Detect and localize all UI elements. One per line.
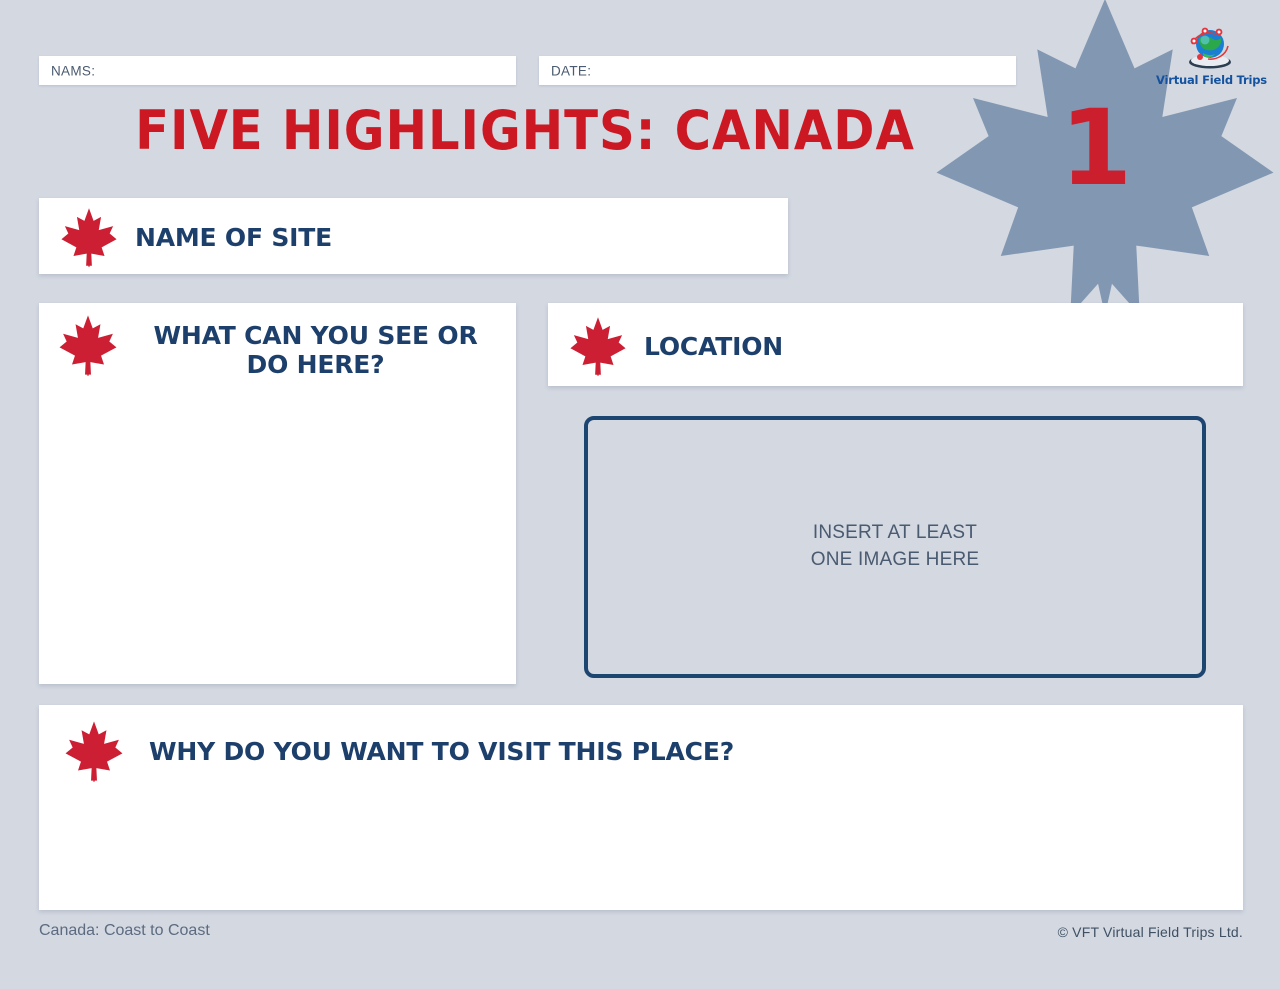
location-panel[interactable]: LOCATION [548, 303, 1243, 386]
date-field[interactable]: DATE: [539, 56, 1016, 85]
location-heading-row: LOCATION [568, 315, 783, 377]
image-placeholder[interactable]: INSERT AT LEAST ONE IMAGE HERE [584, 416, 1206, 678]
maple-leaf-icon [59, 206, 119, 268]
see-or-do-heading-row: WHAT CAN YOU SEE OR DO HERE? [57, 313, 498, 379]
worksheet-page: 1 Virtual Field Trips NAMS: DATE: FIV [0, 0, 1280, 989]
maple-leaf-icon [568, 315, 628, 377]
why-visit-heading-row: WHY DO YOU WANT TO VISIT THIS PLACE? [63, 719, 734, 783]
name-field[interactable]: NAMS: [39, 56, 516, 85]
image-placeholder-text: INSERT AT LEAST ONE IMAGE HERE [811, 520, 980, 574]
location-heading: LOCATION [644, 332, 783, 361]
name-of-site-heading: NAME OF SITE [135, 223, 332, 252]
page-title: FIVE HIGHLIGHTS: CANADA [42, 104, 1008, 158]
why-visit-heading: WHY DO YOU WANT TO VISIT THIS PLACE? [149, 737, 734, 766]
virtual-field-trips-logo: Virtual Field Trips [1156, 24, 1264, 87]
name-field-label: NAMS: [51, 63, 95, 78]
logo-text: Virtual Field Trips [1156, 73, 1264, 87]
name-of-site-panel[interactable]: NAME OF SITE [39, 198, 788, 274]
footer-right-copyright: © VFT Virtual Field Trips Ltd. [1058, 924, 1243, 940]
footer-left-text: Canada: Coast to Coast [39, 922, 210, 940]
highlight-number-badge: 1 [1040, 96, 1150, 200]
see-or-do-panel[interactable]: WHAT CAN YOU SEE OR DO HERE? [39, 303, 516, 684]
globe-icon [1183, 24, 1237, 72]
why-visit-panel[interactable]: WHY DO YOU WANT TO VISIT THIS PLACE? [39, 705, 1243, 910]
name-of-site-heading-row: NAME OF SITE [59, 206, 332, 268]
date-field-label: DATE: [551, 63, 591, 78]
maple-leaf-icon [63, 719, 125, 783]
maple-leaf-icon [57, 313, 119, 377]
see-or-do-heading: WHAT CAN YOU SEE OR DO HERE? [133, 313, 498, 379]
image-placeholder-line-1: INSERT AT LEAST [811, 520, 980, 547]
image-placeholder-line-2: ONE IMAGE HERE [811, 547, 980, 574]
